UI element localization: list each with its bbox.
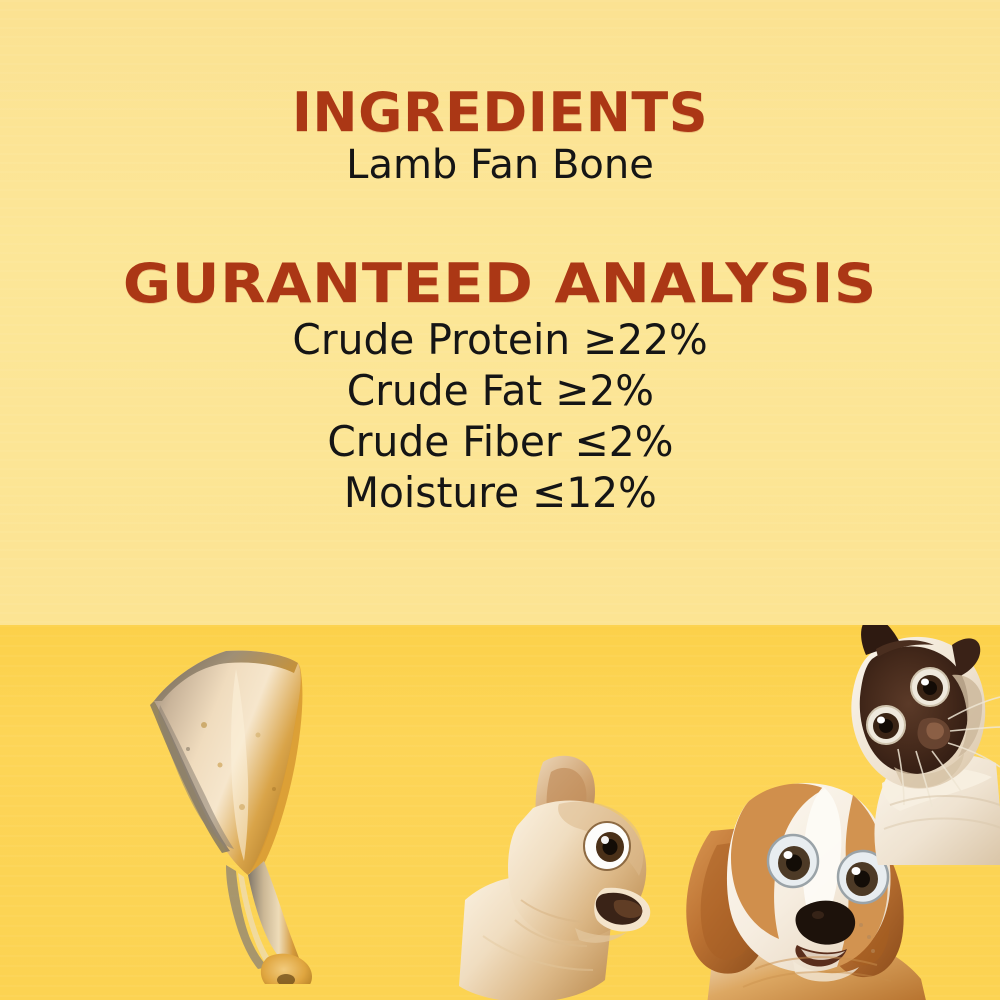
- analysis-row-crude-protein: Crude Protein ≥22%: [0, 319, 1000, 370]
- ingredients-list-item: Lamb Fan Bone: [0, 145, 1000, 185]
- analysis-row-crude-fiber: Crude Fiber ≤2%: [0, 421, 1000, 472]
- guaranteed-analysis-list: Crude Protein ≥22% Crude Fat ≥2% Crude F…: [0, 319, 1000, 523]
- ingredients-heading: INGREDIENTS: [0, 86, 1000, 140]
- analysis-row-text: Crude Fiber ≤2%: [327, 421, 673, 463]
- lamb-fan-bone-image: [108, 639, 338, 984]
- product-photo-panel: [0, 625, 1000, 1000]
- analysis-row-moisture: Moisture ≤12%: [0, 472, 1000, 523]
- analysis-row-text: Moisture ≤12%: [344, 472, 657, 514]
- product-info-page: INGREDIENTS Lamb Fan Bone GURANTEED ANAL…: [0, 0, 1000, 1000]
- analysis-row-crude-fat: Crude Fat ≥2%: [0, 370, 1000, 421]
- guaranteed-analysis-heading-text: GURANTEED ANALYSIS: [123, 257, 877, 311]
- analysis-row-text: Crude Protein ≥22%: [292, 319, 707, 361]
- himalayan-cat-image: [820, 625, 1000, 865]
- analysis-row-text: Crude Fat ≥2%: [346, 370, 653, 412]
- guaranteed-analysis-heading: GURANTEED ANALYSIS: [0, 257, 1000, 311]
- nutrition-info-panel: INGREDIENTS Lamb Fan Bone GURANTEED ANAL…: [0, 0, 1000, 625]
